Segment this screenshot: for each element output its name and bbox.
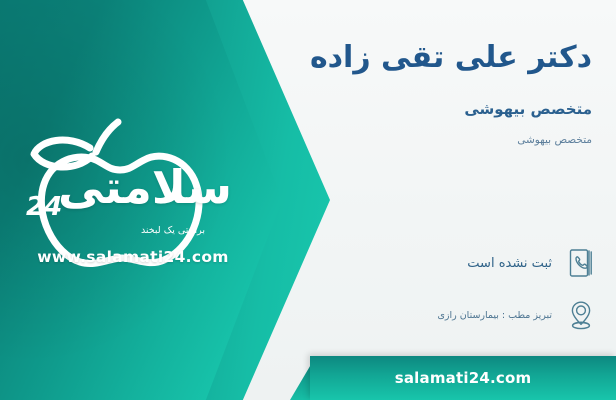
contact-info-list: ثبت نشده است تبریز مطب : بیمارستان رازی [338, 244, 598, 348]
contact-row-address[interactable]: تبریز مطب : بیمارستان رازی [338, 296, 598, 334]
contact-row-phone[interactable]: ثبت نشده است [338, 244, 598, 282]
phone-value: ثبت نشده است [338, 256, 552, 271]
footer-site-label: salamati24.com [395, 369, 532, 387]
doctor-profile-card: سلامتی 24 براحتی یک لبخند www.salamati24… [0, 0, 616, 400]
logo-wordmark: سلامتی [58, 160, 232, 214]
footer-bar[interactable]: salamati24.com [310, 356, 616, 400]
logo-24-badge: 24 [26, 192, 62, 222]
map-pin-icon [564, 296, 598, 334]
logo-tagline: براحتی یک لبخند [100, 225, 246, 236]
doctor-specialty-secondary: متخصص بیهوشی [262, 134, 592, 146]
doctor-specialty: متخصص بیهوشی [262, 100, 592, 118]
address-value: تبریز مطب : بیمارستان رازی [338, 310, 552, 321]
doctor-name: دکتر علی تقی زاده [262, 38, 592, 79]
phonebook-icon [564, 244, 598, 282]
logo-website-url: www.salamati24.com [18, 248, 248, 266]
